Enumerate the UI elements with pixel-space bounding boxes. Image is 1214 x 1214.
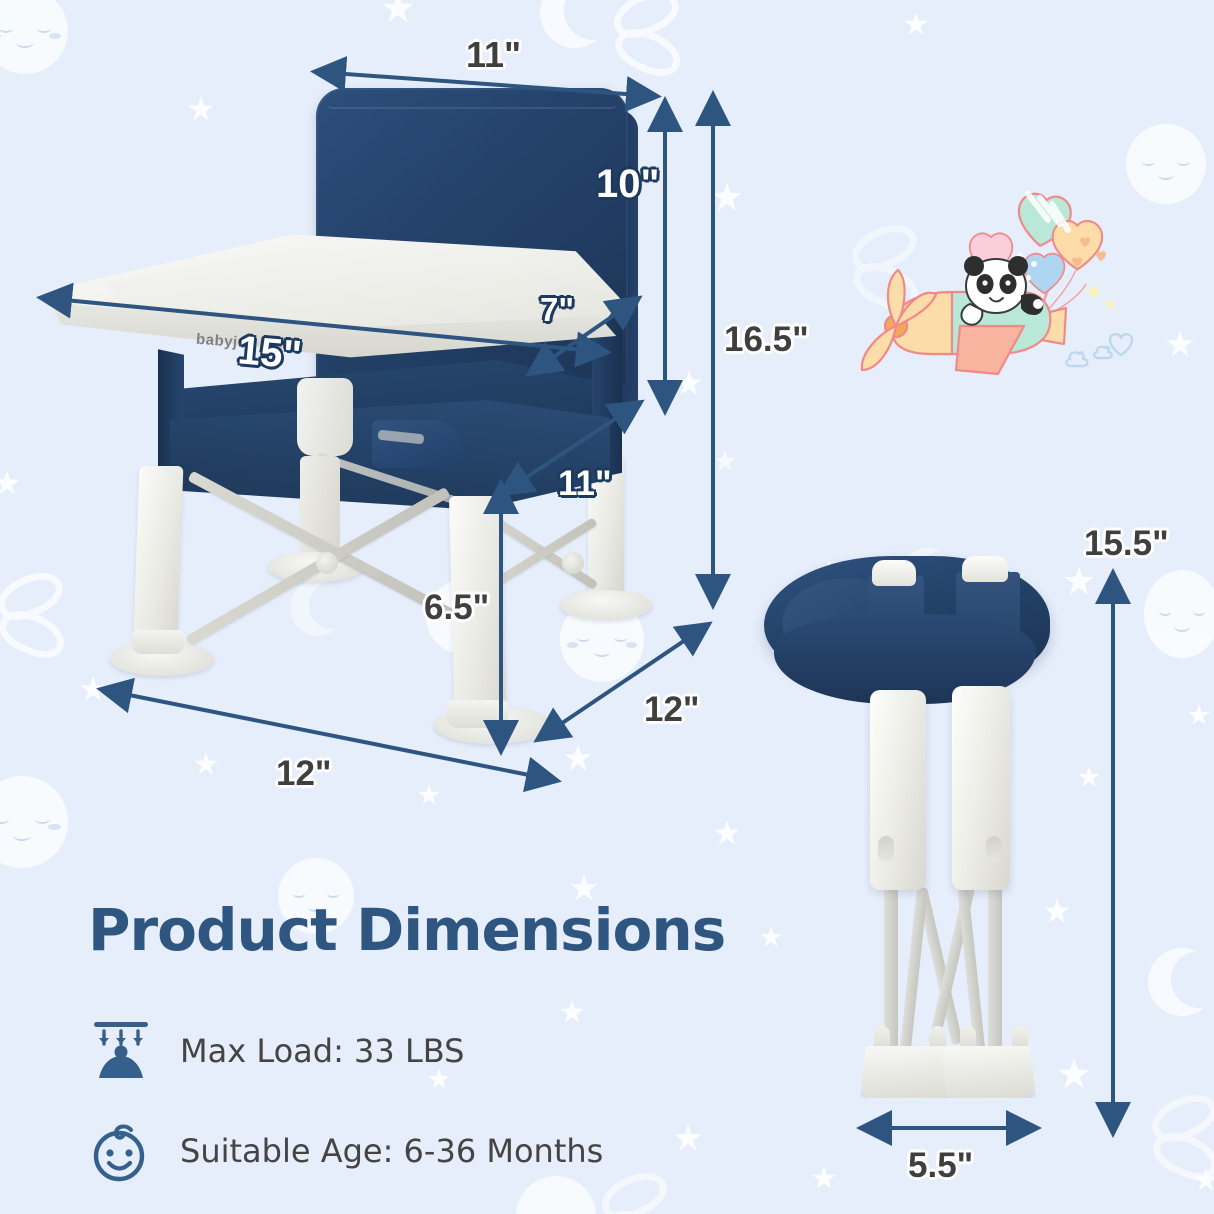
- sleeping-moon-face-icon: [0, 776, 68, 868]
- folded-base-left: [860, 1046, 952, 1098]
- folded-leg-post-left: [870, 690, 926, 890]
- max-load-weight-icon: [88, 1018, 154, 1084]
- panda-airplane-decoration: [848, 158, 1148, 378]
- star-icon: [1058, 1058, 1090, 1090]
- spec-row-suitable-age: Suitable Age: 6-36 Months: [88, 1118, 603, 1184]
- crescent-moon-icon: [540, 0, 610, 48]
- dim-arrow-tray-width: [36, 288, 616, 370]
- folded-frame-knob: [962, 556, 1008, 582]
- dim-label-tray-width: 15": [236, 328, 303, 378]
- crescent-moon-icon: [290, 580, 346, 636]
- chair-brace-hub: [316, 552, 338, 574]
- folded-leg-post-right: [952, 686, 1010, 890]
- star-icon: [1078, 766, 1100, 788]
- star-icon: [560, 1000, 584, 1024]
- dim-label-seat-height: 6.5": [424, 588, 489, 628]
- sleeping-moon-face-icon: [0, 0, 68, 74]
- star-icon: [382, 0, 414, 24]
- chair-safety-strap: [372, 420, 464, 468]
- dim-arrow-folded-width: [856, 1118, 1044, 1138]
- star-icon: [1188, 704, 1210, 726]
- baby-face-icon: [88, 1118, 154, 1184]
- dim-label-seat-depth: 11": [558, 464, 612, 504]
- chair-brace-hub: [562, 552, 584, 574]
- dim-label-folded-width: 5.5": [908, 1146, 973, 1186]
- dim-arrow-total-height: [700, 90, 726, 610]
- folded-frame-knob: [872, 560, 916, 586]
- chair-leg-cap: [132, 630, 184, 654]
- star-icon: [676, 370, 702, 396]
- dim-arrow-backrest-height: [652, 96, 678, 416]
- star-icon: [1194, 1168, 1214, 1192]
- star-icon: [714, 820, 740, 846]
- star-icon: [674, 1124, 702, 1152]
- spec-label-max-load: Max Load: 33 LBS: [180, 1032, 464, 1070]
- dim-label-total-height: 16.5": [724, 320, 809, 360]
- chair-folded-illustration: [756, 556, 1056, 1156]
- star-icon: [812, 1166, 836, 1190]
- sleeping-moon-face-icon: [1144, 570, 1214, 658]
- dim-arrow-folded-height: [1100, 568, 1126, 1138]
- folded-frame-tube: [899, 888, 928, 1056]
- star-icon: [1064, 566, 1094, 596]
- dim-label-backrest-width: 11": [466, 34, 521, 76]
- spec-label-suitable-age: Suitable Age: 6-36 Months: [180, 1132, 603, 1170]
- star-icon: [188, 96, 214, 122]
- spec-row-max-load: Max Load: 33 LBS: [88, 1018, 464, 1084]
- star-icon: [904, 12, 928, 36]
- page-title: Product Dimensions: [88, 896, 725, 964]
- dim-label-base-width: 12": [276, 754, 332, 794]
- dim-label-base-depth: 12": [644, 690, 700, 730]
- dim-label-folded-height: 15.5": [1084, 524, 1169, 564]
- folded-frame-tube: [988, 886, 1002, 1056]
- folded-base-right: [942, 1046, 1036, 1098]
- crescent-moon-icon: [1148, 948, 1214, 1016]
- chair-crotch-post: [297, 378, 353, 456]
- star-icon: [0, 470, 20, 496]
- infographic-canvas: babyjoy: [0, 0, 1214, 1214]
- dim-label-backrest-height: 10": [596, 162, 659, 207]
- star-icon: [1166, 330, 1194, 358]
